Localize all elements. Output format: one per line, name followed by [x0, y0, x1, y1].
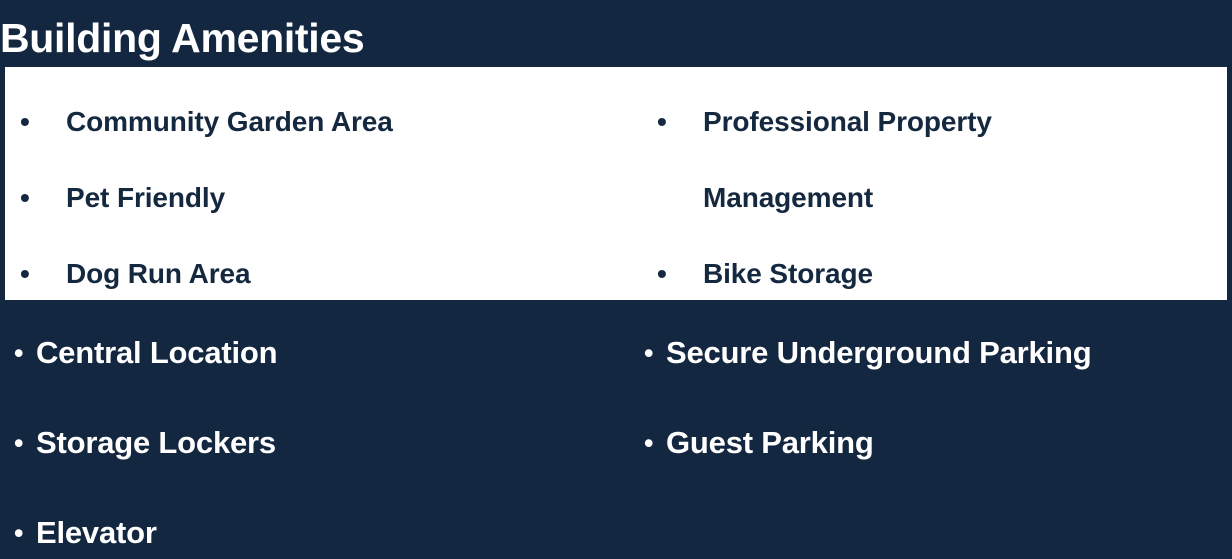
bullet-icon: •	[14, 488, 23, 559]
amenities-list-right: • Professional Property Management • Bik…	[645, 84, 1227, 300]
list-item-label: Professional Property Management	[703, 84, 1133, 236]
bullet-icon: •	[644, 398, 653, 488]
features-list-right: • Secure Underground Parking • Guest Par…	[644, 308, 1232, 488]
amenities-column-left: • Community Garden Area • Pet Friendly •…	[5, 67, 635, 300]
features-column-left: • Central Location • Storage Lockers • E…	[0, 300, 636, 559]
list-item[interactable]: • Central Location	[14, 308, 636, 398]
page-title: Building Amenities	[0, 18, 1232, 59]
bullet-icon: •	[644, 308, 653, 398]
list-item[interactable]: • Dog Run Area	[8, 236, 635, 300]
bullet-icon: •	[20, 84, 36, 160]
list-item[interactable]: • Professional Property Management	[645, 84, 1227, 236]
amenities-card: • Community Garden Area • Pet Friendly •…	[5, 67, 1227, 300]
list-item[interactable]: • Community Garden Area	[8, 84, 635, 160]
bullet-icon: •	[20, 236, 36, 300]
list-item-label: Pet Friendly	[66, 160, 225, 236]
list-item[interactable]: • Elevator	[14, 488, 636, 559]
features-column-right: • Secure Underground Parking • Guest Par…	[636, 300, 1232, 559]
amenities-card-columns: • Community Garden Area • Pet Friendly •…	[5, 67, 1227, 300]
bullet-icon: •	[20, 160, 36, 236]
bullet-icon: •	[657, 236, 673, 300]
amenities-list-left: • Community Garden Area • Pet Friendly •…	[8, 84, 635, 300]
amenities-page: Building Amenities • Community Garden Ar…	[0, 0, 1232, 559]
bullet-icon: •	[14, 398, 23, 488]
list-item-label: Central Location	[36, 335, 277, 370]
list-item[interactable]: • Secure Underground Parking	[644, 308, 1232, 398]
amenities-column-right: • Professional Property Management • Bik…	[635, 67, 1227, 300]
list-item[interactable]: • Pet Friendly	[8, 160, 635, 236]
bullet-icon: •	[14, 308, 23, 398]
list-item-label: Guest Parking	[666, 425, 874, 460]
list-item[interactable]: • Bike Storage	[645, 236, 1227, 300]
list-item[interactable]: • Storage Lockers	[14, 398, 636, 488]
list-item-label: Dog Run Area	[66, 236, 250, 300]
list-item-label: Bike Storage	[703, 236, 873, 300]
list-item-label: Community Garden Area	[66, 84, 393, 160]
list-item-label: Elevator	[36, 515, 157, 550]
list-item[interactable]: • Guest Parking	[644, 398, 1232, 488]
features-section: • Central Location • Storage Lockers • E…	[0, 300, 1232, 559]
bullet-icon: •	[657, 84, 673, 160]
list-item-label: Storage Lockers	[36, 425, 276, 460]
list-item-label: Secure Underground Parking	[666, 335, 1091, 370]
features-list-left: • Central Location • Storage Lockers • E…	[14, 308, 636, 559]
